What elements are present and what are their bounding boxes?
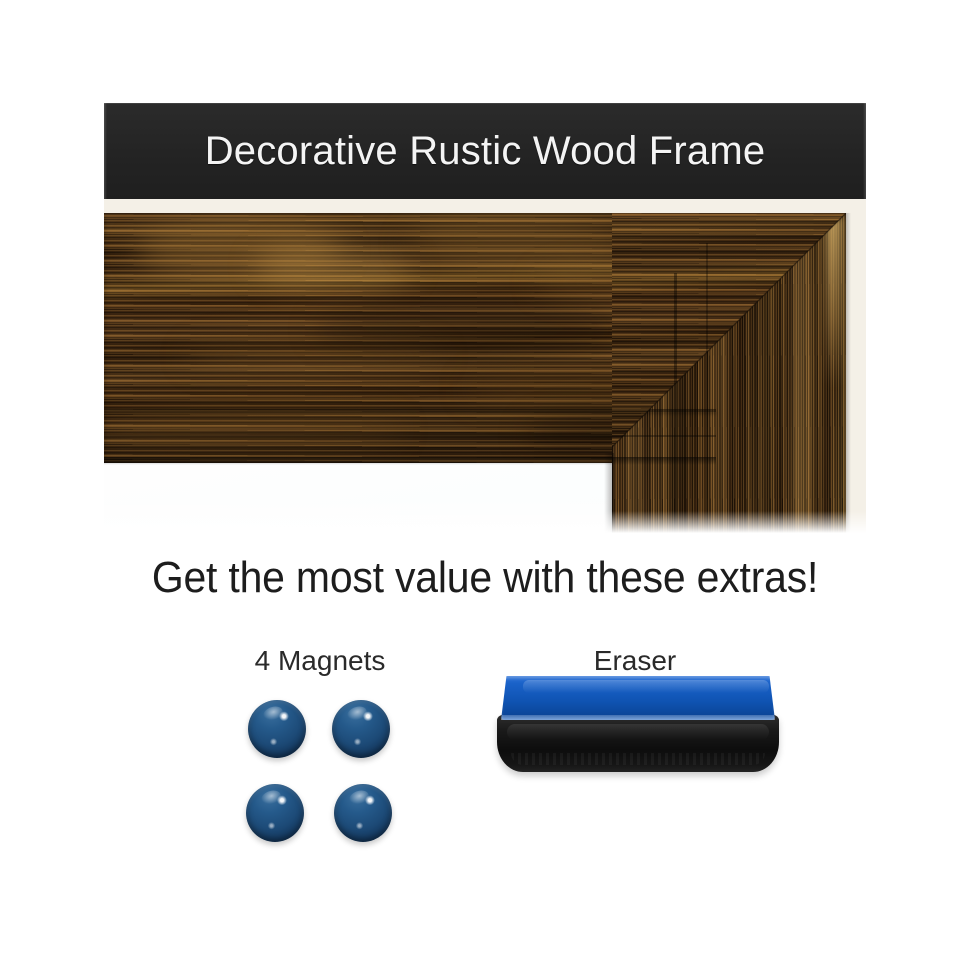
wood-grain-blotch <box>254 243 414 289</box>
photo-right-margin <box>846 213 866 535</box>
wood-frame-photo <box>104 213 866 535</box>
page-title: Decorative Rustic Wood Frame <box>205 131 766 171</box>
eraser-felt-pad <box>497 714 779 772</box>
wood-worn-edge-highlight <box>826 217 842 387</box>
magnet-dome-icon <box>332 700 390 758</box>
banner-left-edge-highlight <box>104 103 107 199</box>
banner-right-edge-highlight <box>863 103 866 199</box>
eraser-handle-sheen <box>523 680 769 693</box>
eraser-illustration <box>493 676 783 782</box>
extra-label-magnets: 4 Magnets <box>200 645 440 677</box>
extra-label-eraser: Eraser <box>515 645 755 677</box>
wood-grain-blotch <box>104 403 404 457</box>
frame-inner-shadow-horizontal <box>104 457 716 465</box>
photo-bottom-fade <box>104 511 866 535</box>
wood-grain-blotch <box>404 219 634 267</box>
matt-strip <box>104 199 866 213</box>
magnets-illustration <box>240 698 410 858</box>
magnet-dome-icon <box>334 784 392 842</box>
magnet-dome-icon <box>248 700 306 758</box>
extras-headline: Get the most value with these extras! <box>34 553 936 603</box>
eraser-plastic-handle <box>501 676 775 720</box>
wood-grain-shadow <box>314 301 614 357</box>
magnet-dome-icon <box>246 784 304 842</box>
product-title-banner: Decorative Rustic Wood Frame <box>104 103 866 199</box>
product-photo: Decorative Rustic Wood Frame <box>104 103 866 535</box>
